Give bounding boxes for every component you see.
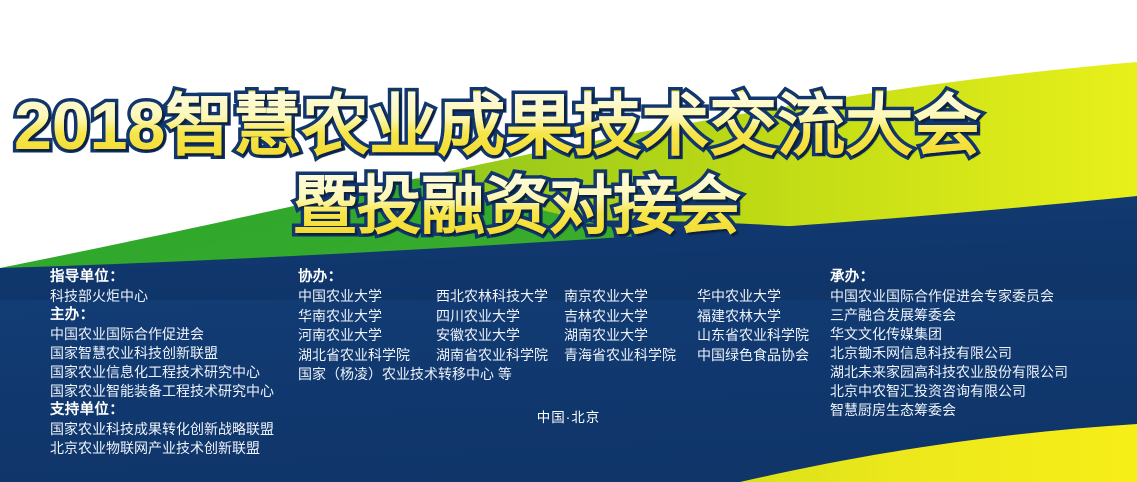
coorganizer-item: 吉林农业大学 bbox=[564, 307, 697, 327]
coorganizer-item: 国家（杨凌）农业技术转移中心 等 bbox=[298, 365, 697, 385]
guide-item: 科技部火炬中心 bbox=[50, 287, 274, 306]
coorganizer-item: 中国农业大学 bbox=[298, 287, 436, 307]
location-text: 中国·北京 bbox=[0, 406, 1137, 426]
coorganizer-item: 中国绿色食品协会 bbox=[697, 346, 809, 366]
coorganizer-item: 山东省农业科学院 bbox=[697, 326, 809, 346]
coorganizer-item: 西北农林科技大学 bbox=[436, 287, 564, 307]
coorganizer-item: 华中农业大学 bbox=[697, 287, 809, 307]
undertaker-item: 湖北未来家园高科技农业股份有限公司 bbox=[830, 363, 1068, 382]
host-item: 国家农业智能装备工程技术研究中心 bbox=[50, 382, 274, 401]
coorganizer-item: 安徽农业大学 bbox=[436, 326, 564, 346]
coorganizer-item: 华南农业大学 bbox=[298, 307, 436, 327]
coorganizer-item: 青海省农业科学院 bbox=[564, 346, 697, 366]
guide-heading: 指导单位： bbox=[50, 268, 274, 287]
coorganizer-item: 河南农业大学 bbox=[298, 326, 436, 346]
host-item: 国家农业信息化工程技术研究中心 bbox=[50, 363, 274, 382]
undertaker-item: 华文文化传媒集团 bbox=[830, 325, 1068, 344]
host-item: 中国农业国际合作促进会 bbox=[50, 325, 274, 344]
coorganizer-item: 四川农业大学 bbox=[436, 307, 564, 327]
undertakers-block: 承办： 中国农业国际合作促进会专家委员会 三产融合发展筹委会 华文文化传媒集团 … bbox=[830, 268, 1068, 420]
undertaker-heading: 承办： bbox=[830, 268, 1068, 287]
undertaker-item: 中国农业国际合作促进会专家委员会 bbox=[830, 287, 1068, 306]
conference-poster: 2018智慧农业成果技术交流大会 2018智慧农业成果技术交流大会 暨投融资对接… bbox=[0, 0, 1137, 482]
undertaker-item: 北京锄禾网信息科技有限公司 bbox=[830, 344, 1068, 363]
coorganizer-item: 南京农业大学 bbox=[564, 287, 697, 307]
undertaker-item: 北京中农智汇投资咨询有限公司 bbox=[830, 382, 1068, 401]
support-item: 北京农业物联网产业技术创新联盟 bbox=[50, 439, 274, 458]
coorganizer-item: 湖南省农业科学院 bbox=[436, 346, 564, 366]
host-heading: 主办： bbox=[50, 306, 274, 325]
coorganizer-grid: 中国农业大学 西北农林科技大学 南京农业大学 华中农业大学 华南农业大学 四川农… bbox=[298, 287, 809, 385]
coorganizer-heading: 协办： bbox=[298, 268, 809, 287]
coorganizer-item: 湖北省农业科学院 bbox=[298, 346, 436, 366]
coorganizer-item: 福建农林大学 bbox=[697, 307, 809, 327]
host-item: 国家智慧农业科技创新联盟 bbox=[50, 344, 274, 363]
coorganizers-block: 协办： 中国农业大学 西北农林科技大学 南京农业大学 华中农业大学 华南农业大学… bbox=[298, 268, 809, 385]
undertaker-item: 三产融合发展筹委会 bbox=[830, 306, 1068, 325]
coorganizer-item: 湖南农业大学 bbox=[564, 326, 697, 346]
guide-organizers-block: 指导单位： 科技部火炬中心 主办： 中国农业国际合作促进会 国家智慧农业科技创新… bbox=[50, 268, 274, 458]
